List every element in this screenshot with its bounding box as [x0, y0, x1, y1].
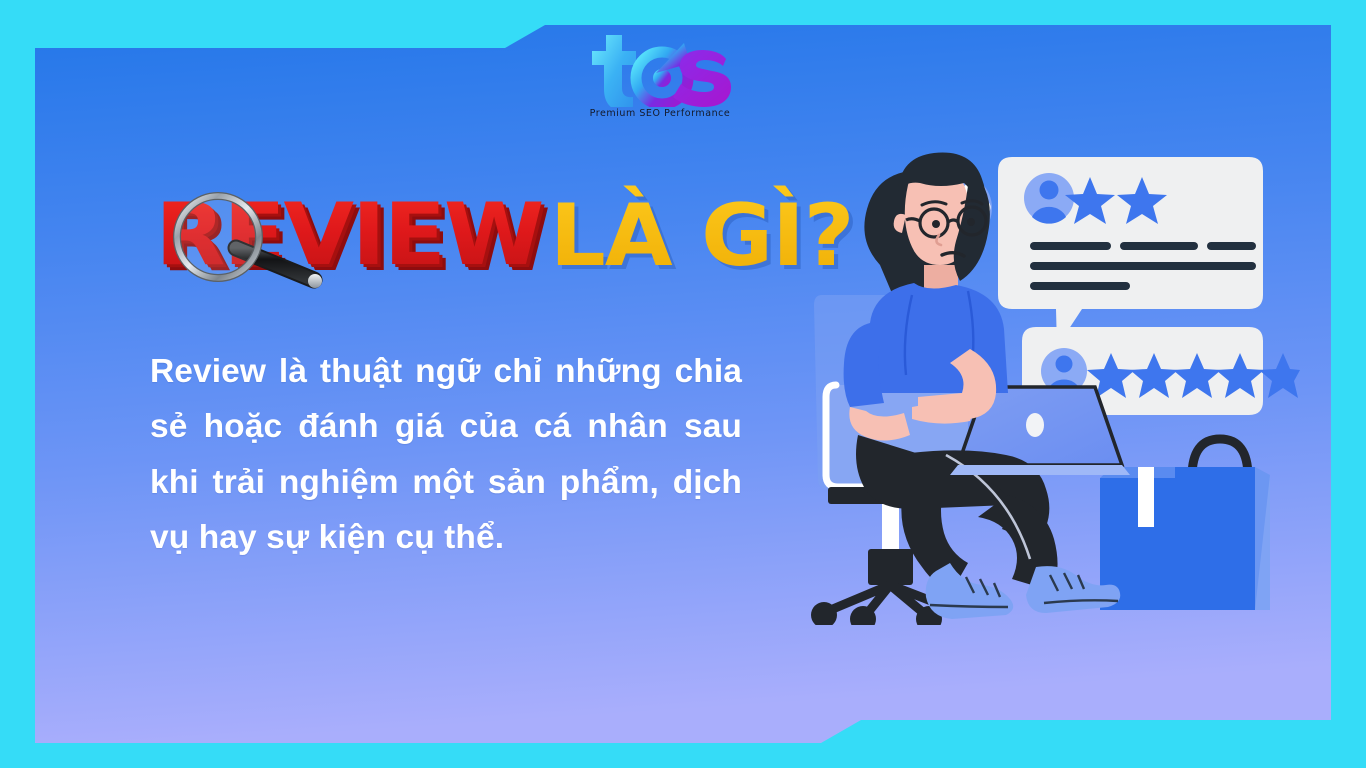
brand-tagline: Premium SEO Performance [565, 108, 755, 119]
review-card-top [998, 157, 1263, 347]
illustration-art [800, 135, 1300, 625]
laptop-base [950, 465, 1130, 475]
shopping-bag [1175, 439, 1270, 610]
page-title: REVIEW REVIEW REVIEW LÀ GÌ? LÀ GÌ? [150, 176, 790, 284]
poster-canvas: Premium SEO Performance [0, 0, 1366, 768]
headline-art: REVIEW REVIEW REVIEW LÀ GÌ? LÀ GÌ? [150, 176, 790, 286]
tos-target-logo-icon [580, 33, 740, 107]
sneaker-left [926, 563, 1013, 619]
hero-illustration [800, 135, 1300, 625]
brand-logo: Premium SEO Performance [565, 33, 755, 133]
body-paragraph: Review là thuật ngữ chỉ những chia sẻ ho… [150, 344, 742, 566]
